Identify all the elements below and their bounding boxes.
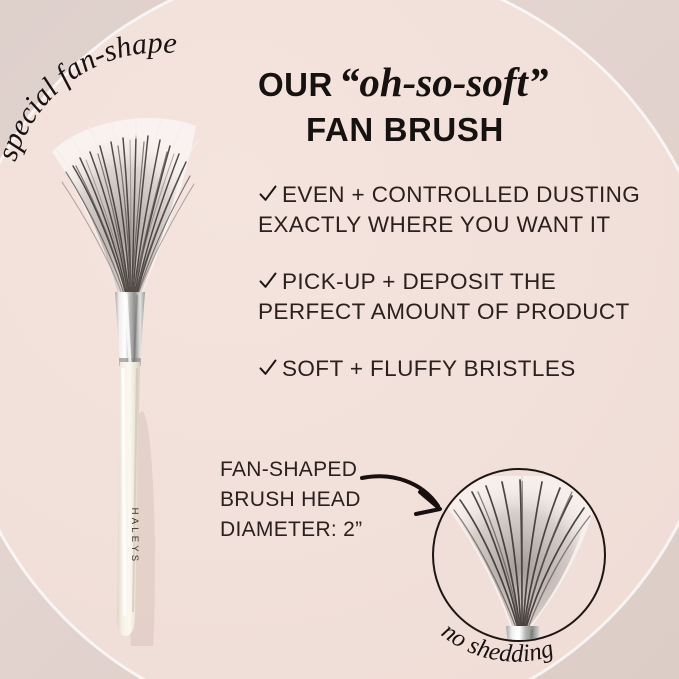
benefits-list: EVEN + CONTROLLED DUSTING EXACTLY WHERE … (258, 180, 670, 384)
checkmark-icon (258, 271, 282, 291)
brand-stamp: HALEYS (129, 508, 140, 565)
headline-prefix: OUR (258, 66, 333, 103)
checkmark-icon (258, 184, 282, 204)
brush-head-closeup (432, 476, 606, 642)
product-graphic: HALEYS special fan-shape OUR“oh-so-soft”… (0, 0, 679, 679)
copy-block: OUR“oh-so-soft” FAN BRUSH EVEN + CONTROL… (258, 62, 670, 384)
fan-brush-image: HALEYS (18, 96, 248, 646)
benefit-text: SOFT + FLUFFY BRISTLES (282, 356, 576, 381)
benefit-text: PICK-UP + DEPOSIT THE PERFECT AMOUNT OF … (258, 269, 630, 324)
headline-line-2: FAN BRUSH (258, 113, 670, 146)
headline-script: “oh-so-soft” (339, 59, 549, 105)
benefit-text: EVEN + CONTROLLED DUSTING EXACTLY WHERE … (258, 182, 640, 237)
list-item: PICK-UP + DEPOSIT THE PERFECT AMOUNT OF … (258, 267, 670, 327)
page-title: OUR“oh-so-soft” FAN BRUSH (258, 62, 670, 146)
brush-head-inset (432, 468, 606, 642)
checkmark-icon (258, 358, 282, 378)
list-item: EVEN + CONTROLLED DUSTING EXACTLY WHERE … (258, 180, 670, 240)
brush-bristles (52, 118, 199, 294)
headline-line-1: OUR“oh-so-soft” (258, 62, 670, 103)
list-item: SOFT + FLUFFY BRISTLES (258, 354, 670, 384)
